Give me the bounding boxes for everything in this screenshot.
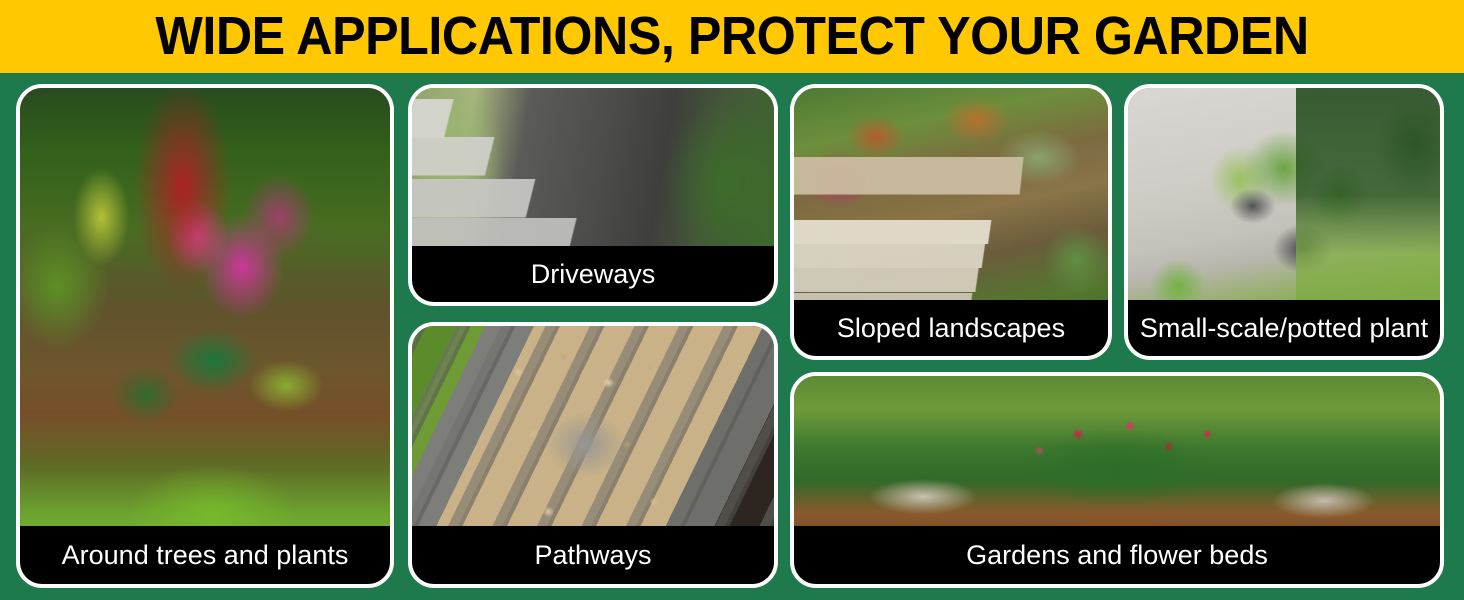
application-panel-small-scale-potted-plant: Small-scale/potted plant <box>1124 84 1444 360</box>
application-panel-sloped-landscapes: Sloped landscapes <box>790 84 1112 360</box>
application-panel-pathways: Pathways <box>408 322 778 588</box>
caption-small-scale-potted-plant: Small-scale/potted plant <box>1128 300 1440 356</box>
caption-around-trees-and-plants: Around trees and plants <box>20 526 390 584</box>
caption-gardens-and-flower-beds: Gardens and flower beds <box>794 526 1440 584</box>
caption-sloped-landscapes: Sloped landscapes <box>794 300 1108 356</box>
caption-pathways: Pathways <box>412 526 774 584</box>
application-photo-grid: Around trees and plants Driveways Pathwa… <box>0 73 1464 600</box>
photo-around-trees-and-plants <box>20 88 390 584</box>
application-panel-around-trees-and-plants: Around trees and plants <box>16 84 394 588</box>
page-title: WIDE APPLICATIONS, PROTECT YOUR GARDEN <box>155 9 1308 65</box>
caption-driveways: Driveways <box>412 246 774 302</box>
header-banner: WIDE APPLICATIONS, PROTECT YOUR GARDEN <box>0 0 1464 73</box>
application-panel-gardens-and-flower-beds: Gardens and flower beds <box>790 372 1444 588</box>
wide-applications-banner: WIDE APPLICATIONS, PROTECT YOUR GARDEN A… <box>0 0 1464 600</box>
application-panel-driveways: Driveways <box>408 84 778 306</box>
